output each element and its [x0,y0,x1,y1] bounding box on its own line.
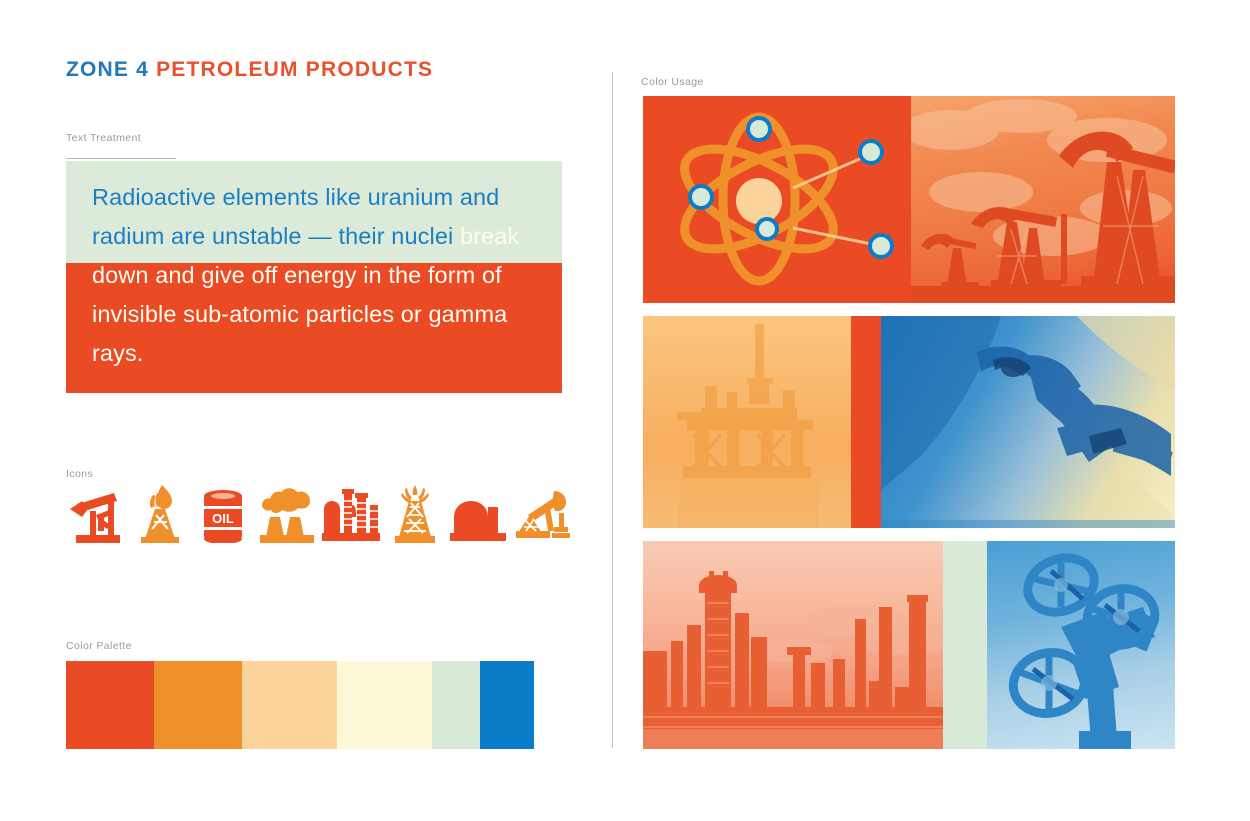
oil-barrel-icon: OIL [192,483,256,543]
atom-illustration [643,96,911,303]
color-palette-label: Color Palette [66,640,132,652]
red-divider-stripe [851,316,881,528]
page-title-zone: ZONE 4 [66,58,156,81]
palette-swatch-light-peach [242,661,337,749]
icons-label: Icons [66,468,93,480]
palette-swatch-blue [480,661,534,749]
quote-text-line-a: Radioactive elements like uranium and ra… [92,184,499,249]
pumpjacks-photo [911,96,1175,303]
refinery-icon [319,483,383,543]
pumpjack-alt-icon [510,483,574,543]
text-treatment-block: Radioactive elements like uranium and ra… [66,161,562,393]
quote-text: Radioactive elements like uranium and ra… [92,178,544,373]
atom-nucleus [736,178,782,224]
valve-wheels-photo [987,541,1175,749]
oil-gusher-derrick-icon [128,483,192,543]
drilling-derrick-icon [383,483,447,543]
palette-swatch-pale-green [432,661,480,749]
refinery-and-valves-panel [643,541,1175,749]
text-treatment-rule [66,158,176,159]
offshore-oil-platform-photo [643,316,851,528]
storage-tank-icon [447,483,511,543]
offshore-rig-and-fuel-nozzle-panel [643,316,1175,528]
palette-swatch-red-orange [66,661,154,749]
column-divider [612,72,613,748]
oil-barrel-label: OIL [213,511,235,526]
palette-swatch-orange [154,661,242,749]
text-treatment-label: Text Treatment [66,132,141,144]
pale-green-divider-stripe [943,541,987,749]
style-guide-page: ZONE 4 PETROLEUM PRODUCTS Text Treatment… [0,0,1250,821]
icon-set: OIL [64,483,574,543]
color-palette-swatches [66,661,534,749]
fuel-nozzle-photo [881,316,1175,528]
page-title: ZONE 4 PETROLEUM PRODUCTS [66,58,433,82]
palette-swatch-cream [337,661,432,749]
page-title-subject: PETROLEUM PRODUCTS [156,58,433,81]
smokestacks-icon [255,483,319,543]
oil-refinery-photo [643,541,943,749]
atom-and-pumpjacks-panel [643,96,1175,303]
pumpjack-icon [64,483,128,543]
color-usage-label: Color Usage [641,76,704,88]
